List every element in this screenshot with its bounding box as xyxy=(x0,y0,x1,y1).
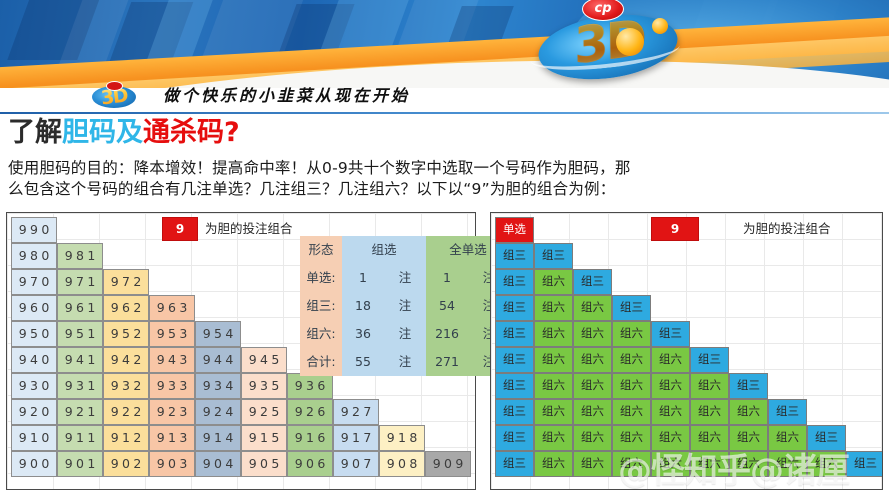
combo-digit: 4 xyxy=(76,354,84,367)
combo-digit: 0 xyxy=(352,458,360,471)
right-zuliu-cell[interactable]: 组六 xyxy=(612,373,651,399)
left-combo-cell[interactable]: 972 xyxy=(103,269,149,295)
left-combo-cell[interactable]: 915 xyxy=(241,425,287,451)
right-zuliu-cell[interactable]: 组六 xyxy=(573,295,612,321)
combo-digit: 1 xyxy=(30,432,38,445)
combo-digit: 9 xyxy=(341,406,349,419)
combo-digit: 2 xyxy=(168,406,176,419)
left-combo-cell[interactable]: 930 xyxy=(11,373,57,399)
combo-digit: 4 xyxy=(122,354,130,367)
left-combo-cell[interactable]: 941 xyxy=(57,347,103,373)
combo-digit: 3 xyxy=(179,380,187,393)
combo-digit: 3 xyxy=(179,458,187,471)
left-combo-cell[interactable]: 917 xyxy=(333,425,379,451)
combo-digit: 2 xyxy=(352,406,360,419)
right-zusan-cell[interactable]: 组三 xyxy=(651,321,690,347)
combo-digit: 0 xyxy=(41,458,49,471)
right-zuliu-cell[interactable]: 组六 xyxy=(729,399,768,425)
right-dan-badge: 9 xyxy=(651,217,699,241)
combo-digit: 9 xyxy=(111,276,119,289)
combo-digit: 6 xyxy=(168,302,176,315)
combo-digit: 9 xyxy=(295,380,303,393)
right-type-sheet[interactable]: 9 为胆的投注组合 单选组三组三组三组六组三组三组六组六组三组三组六组六组六组三… xyxy=(490,212,883,490)
header-divider xyxy=(0,112,889,114)
stats-zuxuan-value: 55 xyxy=(342,348,384,376)
left-combo-cell[interactable]: 916 xyxy=(287,425,333,451)
description-line-2: 么包含这个号码的组合有几注单选？几注组三？几注组六？以下以“9”为胆的组合为例： xyxy=(8,179,884,200)
right-zuliu-cell[interactable]: 组六 xyxy=(534,295,573,321)
left-combo-cell[interactable]: 922 xyxy=(103,399,149,425)
left-combo-cell[interactable]: 971 xyxy=(57,269,103,295)
stats-row-label: 合计: xyxy=(300,348,342,376)
left-combo-cell[interactable]: 990 xyxy=(11,217,57,243)
right-zuliu-cell[interactable]: 组六 xyxy=(690,399,729,425)
combo-digit: 9 xyxy=(157,380,165,393)
combo-digit: 0 xyxy=(41,328,49,341)
right-zusan-cell[interactable]: 组三 xyxy=(495,269,534,295)
combo-digit: 6 xyxy=(30,302,38,315)
combo-digit: 2 xyxy=(133,458,141,471)
right-zusan-cell[interactable]: 组三 xyxy=(495,399,534,425)
right-zuliu-cell[interactable]: 组六 xyxy=(534,373,573,399)
right-zusan-cell[interactable]: 组三 xyxy=(495,451,534,477)
right-zuliu-cell[interactable]: 组六 xyxy=(573,347,612,373)
logo-ball-large xyxy=(616,28,644,56)
left-combo-cell[interactable]: 950 xyxy=(11,321,57,347)
combo-digit: 0 xyxy=(41,250,49,263)
combo-digit: 5 xyxy=(271,354,279,367)
combo-digit: 3 xyxy=(306,380,314,393)
combo-digit: 1 xyxy=(352,432,360,445)
combo-digit: 2 xyxy=(76,406,84,419)
combo-digit: 0 xyxy=(41,302,49,315)
left-combo-cell[interactable]: 960 xyxy=(11,295,57,321)
stats-header-zuxuan: 组选 xyxy=(342,236,426,264)
combo-digit: 9 xyxy=(19,432,27,445)
left-combo-cell[interactable]: 942 xyxy=(103,347,149,373)
combo-digit: 9 xyxy=(295,432,303,445)
combo-digit: 9 xyxy=(387,458,395,471)
stats-zuxuan-value: 36 xyxy=(342,320,384,348)
left-combo-cell[interactable]: 953 xyxy=(149,321,195,347)
combo-digit: 6 xyxy=(317,432,325,445)
right-zusan-cell[interactable]: 组三 xyxy=(495,295,534,321)
right-zusan-cell[interactable]: 组三 xyxy=(807,425,846,451)
combo-digit: 9 xyxy=(30,224,38,237)
stats-row-label: 单选: xyxy=(300,264,342,292)
combo-digit: 9 xyxy=(157,328,165,341)
combo-digit: 6 xyxy=(317,458,325,471)
left-combo-cell[interactable]: 908 xyxy=(379,451,425,477)
combo-digit: 1 xyxy=(168,432,176,445)
left-combo-cell[interactable]: 907 xyxy=(333,451,379,477)
combo-digit: 2 xyxy=(30,406,38,419)
combo-digit: 2 xyxy=(122,406,130,419)
stats-quandanxuan-value: 271 xyxy=(426,348,468,376)
right-zusan-cell[interactable]: 组三 xyxy=(612,295,651,321)
combo-digit: 9 xyxy=(65,302,73,315)
right-zusan-cell[interactable]: 组三 xyxy=(495,321,534,347)
combo-digit: 3 xyxy=(76,380,84,393)
page-banner: 3D cp xyxy=(0,0,889,88)
combo-digit: 9 xyxy=(295,406,303,419)
combo-digit: 9 xyxy=(19,224,27,237)
right-zuliu-cell[interactable]: 组六 xyxy=(612,347,651,373)
combo-digit: 5 xyxy=(214,328,222,341)
combo-digit: 3 xyxy=(179,302,187,315)
combo-digit: 1 xyxy=(306,432,314,445)
title-part-2: 胆码及 xyxy=(62,117,143,148)
left-combo-cell[interactable]: 924 xyxy=(195,399,241,425)
combo-digit: 9 xyxy=(111,458,119,471)
combo-digit: 0 xyxy=(41,406,49,419)
combo-digit: 3 xyxy=(214,380,222,393)
left-combo-cell[interactable]: 918 xyxy=(379,425,425,451)
left-dan-badge: 9 xyxy=(162,217,198,241)
combo-digit: 7 xyxy=(363,432,371,445)
combo-digit: 1 xyxy=(87,302,95,315)
combo-digit: 4 xyxy=(225,432,233,445)
left-combo-cell[interactable]: 934 xyxy=(195,373,241,399)
left-combo-cell[interactable]: 906 xyxy=(287,451,333,477)
left-combo-cell[interactable]: 905 xyxy=(241,451,287,477)
combo-digit: 9 xyxy=(157,302,165,315)
combo-digit: 8 xyxy=(76,250,84,263)
left-combo-cell[interactable]: 932 xyxy=(103,373,149,399)
left-combo-cell[interactable]: 923 xyxy=(149,399,195,425)
combo-digit: 9 xyxy=(111,328,119,341)
combo-digit: 9 xyxy=(249,354,257,367)
stats-zuxuan-value: 1 xyxy=(342,264,384,292)
mini-3d-logo: 3D xyxy=(88,82,140,112)
right-zuliu-cell[interactable]: 组六 xyxy=(651,399,690,425)
right-zuliu-cell[interactable]: 组六 xyxy=(534,399,573,425)
combo-digit: 7 xyxy=(363,406,371,419)
right-zuliu-cell[interactable]: 组六 xyxy=(651,347,690,373)
combo-digit: 0 xyxy=(41,380,49,393)
right-zusan-cell[interactable]: 组三 xyxy=(768,399,807,425)
combo-digit: 4 xyxy=(30,354,38,367)
combo-digit: 9 xyxy=(203,406,211,419)
lottery-3d-logo: 3D cp xyxy=(520,0,690,88)
combo-digit: 9 xyxy=(19,250,27,263)
combo-digit: 6 xyxy=(76,302,84,315)
combo-digit: 4 xyxy=(225,328,233,341)
left-combo-cell[interactable]: 940 xyxy=(11,347,57,373)
right-zuliu-cell[interactable]: 组六 xyxy=(534,269,573,295)
combo-digit: 3 xyxy=(168,380,176,393)
combo-digit: 9 xyxy=(19,276,27,289)
combo-digit: 9 xyxy=(157,432,165,445)
right-zusan-cell[interactable]: 组三 xyxy=(573,269,612,295)
stats-zuxuan-unit: 注 xyxy=(384,264,426,292)
left-combo-cell[interactable]: 935 xyxy=(241,373,287,399)
page-title: 了解胆码及通杀码? xyxy=(8,116,240,150)
left-combo-cell[interactable]: 980 xyxy=(11,243,57,269)
combo-digit: 0 xyxy=(30,458,38,471)
combo-digit: 2 xyxy=(133,302,141,315)
title-part-1: 了解 xyxy=(8,117,62,148)
combo-digit: 0 xyxy=(41,432,49,445)
combo-digit: 2 xyxy=(133,276,141,289)
combo-digit: 9 xyxy=(19,328,27,341)
left-combo-cell[interactable]: 954 xyxy=(195,321,241,347)
description-block: 使用胆码的目的：降本增效！提高命中率！从0-9共十个数字中选取一个号码作为胆码，… xyxy=(8,158,884,200)
right-zuliu-cell[interactable]: 组六 xyxy=(690,425,729,451)
combo-digit: 9 xyxy=(387,432,395,445)
combo-digit: 2 xyxy=(260,406,268,419)
combo-digit: 9 xyxy=(19,354,27,367)
combo-digit: 5 xyxy=(271,406,279,419)
combo-digit: 0 xyxy=(76,458,84,471)
combo-digit: 9 xyxy=(203,380,211,393)
combo-digit: 9 xyxy=(111,432,119,445)
right-zuliu-cell[interactable]: 组六 xyxy=(612,425,651,451)
slogan-text: 做个快乐的小韭菜从现在开始 xyxy=(163,84,410,108)
left-combo-cell[interactable]: 925 xyxy=(241,399,287,425)
combo-digit: 2 xyxy=(306,406,314,419)
right-zuliu-cell[interactable]: 组六 xyxy=(534,425,573,451)
combo-digit: 1 xyxy=(260,432,268,445)
right-zuliu-cell[interactable]: 组六 xyxy=(651,425,690,451)
left-combo-cell[interactable]: 902 xyxy=(103,451,149,477)
combo-digit: 9 xyxy=(65,250,73,263)
combo-digit: 9 xyxy=(157,458,165,471)
combo-digit: 2 xyxy=(133,432,141,445)
combo-digit: 6 xyxy=(317,380,325,393)
right-zusan-cell[interactable]: 组三 xyxy=(495,425,534,451)
left-combo-cell[interactable]: 904 xyxy=(195,451,241,477)
combo-digit: 7 xyxy=(122,276,130,289)
right-zuliu-cell[interactable]: 组六 xyxy=(573,373,612,399)
right-zusan-cell[interactable]: 组三 xyxy=(495,347,534,373)
combo-digit: 9 xyxy=(249,380,257,393)
combo-digit: 5 xyxy=(122,328,130,341)
combo-digit: 1 xyxy=(87,406,95,419)
combo-digit: 9 xyxy=(65,406,73,419)
right-zuliu-cell[interactable]: 组六 xyxy=(768,425,807,451)
combo-digit: 5 xyxy=(271,432,279,445)
stats-quandanxuan-value: 54 xyxy=(426,292,468,320)
combo-digit: 9 xyxy=(433,458,441,471)
right-zuliu-cell[interactable]: 组六 xyxy=(573,451,612,477)
combo-digit: 4 xyxy=(260,354,268,367)
combo-digit: 9 xyxy=(455,458,463,471)
combo-digit: 5 xyxy=(30,328,38,341)
right-zuliu-cell[interactable]: 组六 xyxy=(612,399,651,425)
left-combo-cell[interactable]: 909 xyxy=(425,451,471,477)
combo-digit: 4 xyxy=(225,406,233,419)
combo-digit: 9 xyxy=(249,406,257,419)
right-zuliu-cell[interactable]: 组六 xyxy=(807,451,846,477)
combo-digit: 9 xyxy=(111,380,119,393)
combo-digit: 0 xyxy=(306,458,314,471)
left-combo-cell[interactable]: 970 xyxy=(11,269,57,295)
combo-digit: 0 xyxy=(122,458,130,471)
combo-digit: 7 xyxy=(76,276,84,289)
left-combo-cell[interactable]: 921 xyxy=(57,399,103,425)
left-combo-cell[interactable]: 914 xyxy=(195,425,241,451)
combo-digit: 9 xyxy=(249,432,257,445)
combo-digit: 9 xyxy=(295,458,303,471)
right-zuliu-cell[interactable]: 组六 xyxy=(573,399,612,425)
right-zusan-cell[interactable]: 组三 xyxy=(495,243,534,269)
description-line-1: 使用胆码的目的：降本增效！提高命中率！从0-9共十个数字中选取一个号码作为胆码，… xyxy=(8,158,884,179)
combo-digit: 2 xyxy=(214,406,222,419)
left-combo-cell[interactable]: 933 xyxy=(149,373,195,399)
right-zuliu-cell[interactable]: 组六 xyxy=(651,373,690,399)
right-zuliu-cell[interactable]: 组六 xyxy=(612,321,651,347)
stats-quandanxuan-value: 216 xyxy=(426,320,468,348)
combo-digit: 1 xyxy=(87,354,95,367)
left-combo-cell[interactable]: 943 xyxy=(149,347,195,373)
right-danxuan-cell[interactable]: 单选 xyxy=(495,217,534,243)
left-combo-cell[interactable]: 962 xyxy=(103,295,149,321)
combo-digit: 9 xyxy=(157,354,165,367)
combo-digit: 9 xyxy=(65,328,73,341)
combo-digit: 1 xyxy=(398,432,406,445)
combo-digit: 4 xyxy=(225,354,233,367)
right-badge-caption: 为胆的投注组合 xyxy=(743,217,831,241)
combo-digit: 5 xyxy=(271,380,279,393)
combo-digit: 8 xyxy=(409,432,417,445)
combo-digit: 9 xyxy=(341,458,349,471)
left-combo-cell[interactable]: 926 xyxy=(287,399,333,425)
left-combo-cell[interactable]: 901 xyxy=(57,451,103,477)
combo-digit: 9 xyxy=(157,406,165,419)
combo-digit: 9 xyxy=(19,458,27,471)
combo-digit: 9 xyxy=(341,432,349,445)
combo-digit: 9 xyxy=(19,302,27,315)
combo-digit: 1 xyxy=(87,432,95,445)
combo-digit: 1 xyxy=(122,432,130,445)
right-zusan-cell[interactable]: 组三 xyxy=(729,373,768,399)
left-combo-cell[interactable]: 920 xyxy=(11,399,57,425)
combo-digit: 9 xyxy=(203,354,211,367)
right-zuliu-cell[interactable]: 组六 xyxy=(534,451,573,477)
combo-digit: 7 xyxy=(363,458,371,471)
left-badge-caption: 为胆的投注组合 xyxy=(205,217,293,241)
combo-digit: 9 xyxy=(65,276,73,289)
left-combo-cell[interactable]: 900 xyxy=(11,451,57,477)
combo-digit: 5 xyxy=(271,458,279,471)
right-zusan-cell[interactable]: 组三 xyxy=(495,373,534,399)
right-zusan-cell[interactable]: 组三 xyxy=(690,347,729,373)
combo-digit: 0 xyxy=(398,458,406,471)
combo-digit: 2 xyxy=(133,406,141,419)
combo-digit: 5 xyxy=(168,328,176,341)
stats-zuxuan-unit: 注 xyxy=(384,320,426,348)
combo-digit: 1 xyxy=(87,328,95,341)
left-combo-cell[interactable]: 931 xyxy=(57,373,103,399)
right-zuliu-cell[interactable]: 组六 xyxy=(534,347,573,373)
combo-digit: 9 xyxy=(203,432,211,445)
combo-digit: 2 xyxy=(133,328,141,341)
right-zuliu-cell[interactable]: 组六 xyxy=(573,321,612,347)
title-part-3: 通杀码? xyxy=(143,117,240,148)
combo-digit: 8 xyxy=(30,250,38,263)
left-combo-cell[interactable]: 912 xyxy=(103,425,149,451)
statistics-table: 形态组选全单选单选:1注1注组三:18注54注组六:36注216注合计:55注2… xyxy=(300,236,468,380)
combo-digit: 1 xyxy=(87,380,95,393)
combo-digit: 0 xyxy=(444,458,452,471)
left-combo-cell[interactable]: 913 xyxy=(149,425,195,451)
left-combo-cell[interactable]: 952 xyxy=(103,321,149,347)
combo-digit: 9 xyxy=(19,380,27,393)
right-zuliu-cell[interactable]: 组六 xyxy=(768,451,807,477)
combo-digit: 0 xyxy=(41,224,49,237)
right-zuliu-cell[interactable]: 组六 xyxy=(651,451,690,477)
left-combo-cell[interactable]: 944 xyxy=(195,347,241,373)
combo-digit: 1 xyxy=(87,250,95,263)
combo-digit: 9 xyxy=(111,406,119,419)
left-combo-cell[interactable]: 927 xyxy=(333,399,379,425)
left-combo-cell[interactable]: 910 xyxy=(11,425,57,451)
combo-digit: 9 xyxy=(249,458,257,471)
stats-header-form: 形态 xyxy=(300,236,342,264)
left-combo-cell[interactable]: 961 xyxy=(57,295,103,321)
combo-digit: 2 xyxy=(133,354,141,367)
logo-ball-small xyxy=(652,18,668,34)
right-zuliu-cell[interactable]: 组六 xyxy=(612,451,651,477)
combo-digit: 1 xyxy=(214,432,222,445)
combo-digit: 9 xyxy=(65,458,73,471)
left-combo-cell[interactable]: 945 xyxy=(241,347,287,373)
left-combo-cell[interactable]: 951 xyxy=(57,321,103,347)
combo-digit: 4 xyxy=(168,354,176,367)
left-combo-cell[interactable]: 903 xyxy=(149,451,195,477)
combo-digit: 9 xyxy=(19,406,27,419)
stats-row-label: 组六: xyxy=(300,320,342,348)
combo-digit: 1 xyxy=(76,432,84,445)
mini-cp-badge-icon xyxy=(106,81,123,91)
right-zusan-cell[interactable]: 组三 xyxy=(846,451,883,477)
combo-digit: 5 xyxy=(76,328,84,341)
combo-digit: 9 xyxy=(65,354,73,367)
combo-digit: 4 xyxy=(225,380,233,393)
combo-digit: 3 xyxy=(179,406,187,419)
combo-digit: 3 xyxy=(122,380,130,393)
stats-row-label: 组三: xyxy=(300,292,342,320)
stats-quandanxuan-value: 1 xyxy=(426,264,468,292)
combo-digit: 0 xyxy=(168,458,176,471)
left-combo-cell[interactable]: 981 xyxy=(57,243,103,269)
combo-digit: 8 xyxy=(409,458,417,471)
combo-digit: 9 xyxy=(65,432,73,445)
combo-digit: 1 xyxy=(87,276,95,289)
right-zuliu-cell[interactable]: 组六 xyxy=(573,425,612,451)
right-zuliu-cell[interactable]: 组六 xyxy=(729,451,768,477)
combo-digit: 3 xyxy=(260,380,268,393)
stats-zuxuan-unit: 注 xyxy=(384,292,426,320)
left-combo-cell[interactable]: 963 xyxy=(149,295,195,321)
right-zuliu-cell[interactable]: 组六 xyxy=(690,373,729,399)
combo-digit: 6 xyxy=(122,302,130,315)
combo-digit: 6 xyxy=(317,406,325,419)
combo-digit: 9 xyxy=(111,302,119,315)
right-zuliu-cell[interactable]: 组六 xyxy=(690,451,729,477)
combo-digit: 7 xyxy=(30,276,38,289)
combo-digit: 9 xyxy=(65,380,73,393)
combo-digit: 3 xyxy=(30,380,38,393)
right-zuliu-cell[interactable]: 组六 xyxy=(729,425,768,451)
right-zuliu-cell[interactable]: 组六 xyxy=(534,321,573,347)
right-zusan-cell[interactable]: 组三 xyxy=(534,243,573,269)
combo-digit: 3 xyxy=(179,354,187,367)
combo-digit: 4 xyxy=(225,458,233,471)
left-combo-cell[interactable]: 911 xyxy=(57,425,103,451)
combo-digit: 4 xyxy=(214,354,222,367)
